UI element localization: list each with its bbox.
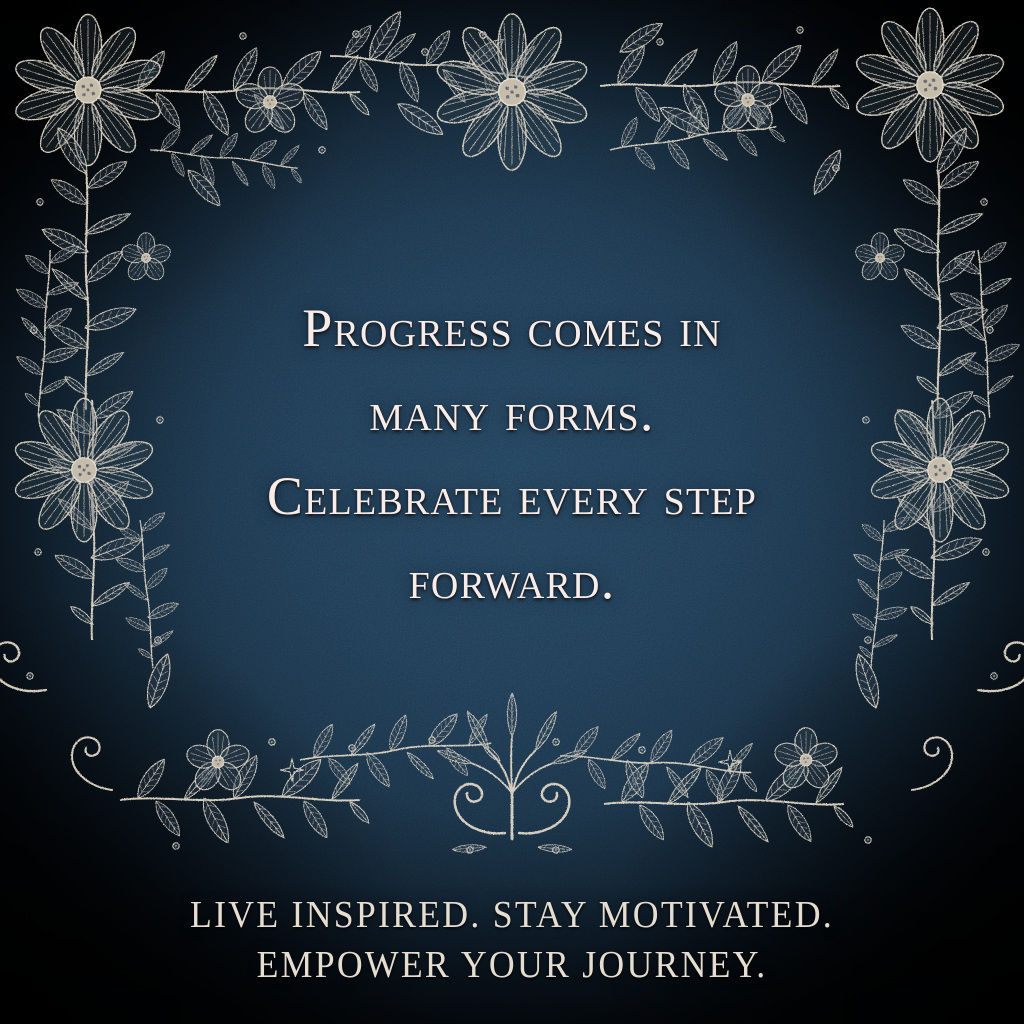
quote-line-4: forward. <box>0 538 1024 622</box>
quote-line-2: many forms. <box>0 370 1024 454</box>
tagline-line-2: Empower your journey. <box>31 940 994 990</box>
tagline-line-1: Live inspired. Stay motivated. <box>31 890 994 940</box>
quote-line-1: Progress comes in <box>0 286 1024 370</box>
tagline-block: Live inspired. Stay motivated. Empower y… <box>0 890 1024 990</box>
quote-line-3: Celebrate every step <box>0 454 1024 538</box>
quote-text-block: Progress comes in many forms. Celebrate … <box>0 286 1024 622</box>
quote-card: Progress comes in many forms. Celebrate … <box>0 0 1024 1024</box>
